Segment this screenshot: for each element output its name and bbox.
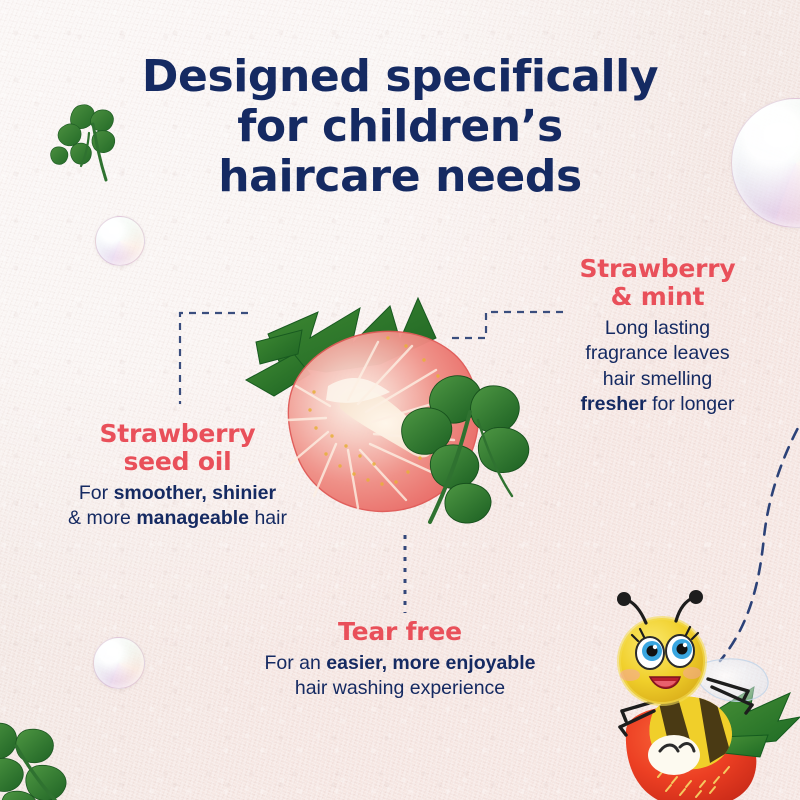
feature-block-strawberry-seed-oil: Strawberry seed oil For smoother, shinie…: [10, 420, 345, 532]
feature-body-line: hair washing experience: [200, 676, 600, 701]
feature-title-line: Strawberry: [10, 420, 345, 448]
feature-body-line: hair smelling: [530, 367, 785, 392]
page-headline: Designed specifically for children’s hai…: [0, 52, 800, 202]
feature-body-line: Long lasting: [530, 316, 785, 341]
feature-body: For smoother, shinier & more manageable …: [10, 481, 345, 532]
product-benefits-infographic: Designed specifically for children’s hai…: [0, 0, 800, 800]
dashed-connector-line: [174, 308, 254, 408]
headline-line-1: Designed specifically: [0, 52, 800, 102]
headline-line-2: for children’s: [0, 102, 800, 152]
feature-body-line: For an easier, more enjoyable: [200, 651, 600, 676]
feature-title: Strawberry seed oil: [10, 420, 345, 476]
feature-title-line: Tear free: [200, 618, 600, 646]
feature-title-line: seed oil: [10, 448, 345, 476]
feature-body-line: fragrance leaves: [530, 341, 785, 366]
feature-body: For an easier, more enjoyable hair washi…: [200, 651, 600, 702]
feature-block-tear-free: Tear free For an easier, more enjoyable …: [200, 618, 600, 702]
feature-block-strawberry-mint: Strawberry & mint Long lasting fragrance…: [530, 255, 785, 417]
feature-title: Tear free: [200, 618, 600, 646]
dashed-connector-line: [398, 533, 416, 615]
feature-body-line: fresher for longer: [530, 392, 785, 417]
feature-title-line: & mint: [530, 283, 785, 311]
mint-sprig-icon: [0, 718, 115, 800]
feature-body-line: For smoother, shinier: [10, 481, 345, 506]
headline-line-3: haircare needs: [0, 152, 800, 202]
soap-bubble-icon: [95, 216, 145, 266]
feature-title-line: Strawberry: [530, 255, 785, 283]
feature-body: Long lasting fragrance leaves hair smell…: [530, 316, 785, 417]
feature-body-line: & more manageable hair: [10, 506, 345, 531]
feature-title: Strawberry & mint: [530, 255, 785, 311]
cartoon-bee-icon: [600, 595, 800, 800]
soap-bubble-icon: [93, 637, 145, 689]
